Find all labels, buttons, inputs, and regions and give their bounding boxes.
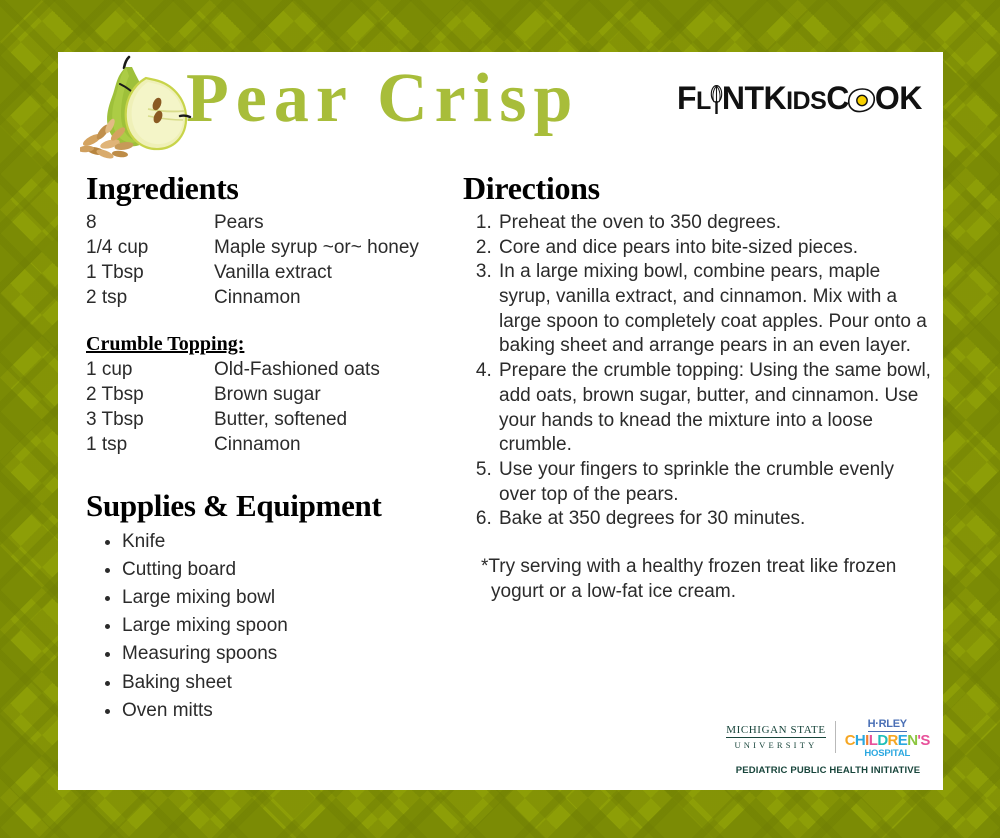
ingredient-qty: 1 Tbsp: [86, 261, 214, 286]
footer-logos: MICHIGAN STATE UNIVERSITY H·RLEY CHILDRE…: [718, 716, 938, 782]
ingredient-item: Butter, softened: [214, 408, 380, 433]
list-item: Bake at 350 degrees for 30 minutes.: [497, 507, 933, 532]
page-title: Pear Crisp: [186, 60, 579, 138]
crumble-topping-table: 1 cup Old-Fashioned oats 2 Tbsp Brown su…: [86, 358, 380, 458]
ingredient-qty: 8: [86, 211, 214, 236]
left-column: Ingredients 8 Pears 1/4 cup Maple syrup …: [86, 170, 476, 725]
table-row: 1 Tbsp Vanilla extract: [86, 261, 419, 286]
list-item: Core and dice pears into bite-sized piec…: [497, 236, 933, 261]
hurley-logo-childrens: CHILDREN'S: [845, 733, 930, 748]
table-row: 2 Tbsp Brown sugar: [86, 383, 380, 408]
hurley-childrens-hospital-logo: H·RLEY CHILDREN'S HOSPITAL: [845, 715, 930, 759]
brand-letter-l: L: [696, 87, 711, 115]
list-item: Use your fingers to sprinkle the crumble…: [497, 458, 933, 507]
crumble-topping-subheading: Crumble Topping:: [86, 333, 244, 356]
ingredient-item: Vanilla extract: [214, 261, 419, 286]
logo-divider: [835, 721, 836, 753]
ingredient-qty: 2 tsp: [86, 286, 214, 311]
serving-suggestion-note: *Try serving with a healthy frozen treat…: [463, 554, 933, 604]
recipe-card-page: Pear Crisp FL NTKIDSC OK: [0, 0, 1000, 838]
brand-letters-ids: IDS: [786, 87, 826, 115]
ingredient-qty: 2 Tbsp: [86, 383, 214, 408]
list-item: Preheat the oven to 350 degrees.: [497, 211, 933, 236]
ingredient-item: Cinnamon: [214, 433, 380, 458]
ingredients-heading: Ingredients: [86, 170, 476, 207]
brand-letters-nt: NT: [722, 80, 764, 116]
michigan-state-university-logo: MICHIGAN STATE UNIVERSITY: [726, 725, 826, 749]
ingredient-qty: 1 tsp: [86, 433, 214, 458]
card-body: Ingredients 8 Pears 1/4 cup Maple syrup …: [58, 170, 943, 730]
table-row: 8 Pears: [86, 211, 419, 236]
supplies-list: Knife Cutting board Large mixing bowl La…: [86, 528, 476, 725]
fried-egg-icon: [847, 88, 877, 114]
list-item: Knife: [122, 528, 476, 556]
directions-list: Preheat the oven to 350 degrees. Core an…: [463, 211, 933, 532]
table-row: 1/4 cup Maple syrup ~or~ honey: [86, 236, 419, 261]
brand-letters-ok: OK: [875, 80, 922, 116]
brand-letter-k: K: [763, 80, 786, 116]
ingredient-qty: 1/4 cup: [86, 236, 214, 261]
card-header: Pear Crisp FL NTKIDSC OK: [58, 52, 943, 170]
list-item: Cutting board: [122, 556, 476, 584]
table-row: 2 tsp Cinnamon: [86, 286, 419, 311]
list-item: Baking sheet: [122, 669, 476, 697]
ingredient-item: Cinnamon: [214, 286, 419, 311]
recipe-card: Pear Crisp FL NTKIDSC OK: [58, 52, 943, 790]
table-row: 3 Tbsp Butter, softened: [86, 408, 380, 433]
ingredient-qty: 1 cup: [86, 358, 214, 383]
hurley-logo-hospital: HOSPITAL: [845, 749, 930, 759]
list-item: Measuring spoons: [122, 640, 476, 668]
pear-and-oats-illustration: [80, 54, 200, 166]
right-column: Directions Preheat the oven to 350 degre…: [463, 170, 933, 604]
ingredient-item: Old-Fashioned oats: [214, 358, 380, 383]
ingredient-qty: 3 Tbsp: [86, 408, 214, 433]
hurley-logo-top: H·RLEY: [868, 719, 907, 732]
list-item: In a large mixing bowl, combine pears, m…: [497, 260, 933, 359]
list-item: Large mixing spoon: [122, 612, 476, 640]
list-item: Oven mitts: [122, 697, 476, 725]
table-row: 1 tsp Cinnamon: [86, 433, 380, 458]
table-row: 1 cup Old-Fashioned oats: [86, 358, 380, 383]
list-item: Large mixing bowl: [122, 584, 476, 612]
directions-heading: Directions: [463, 170, 933, 207]
msu-logo-line2: UNIVERSITY: [726, 741, 826, 750]
pediatric-public-health-initiative-tagline: PEDIATRIC PUBLIC HEALTH INITIATIVE: [718, 765, 938, 776]
flintkidscook-logo: FL NTKIDSC OK: [677, 74, 927, 122]
brand-letter-f: F: [677, 80, 696, 116]
brand-letter-c: C: [826, 80, 849, 116]
ingredient-item: Pears: [214, 211, 419, 236]
ingredient-item: Brown sugar: [214, 383, 380, 408]
ingredients-table: 8 Pears 1/4 cup Maple syrup ~or~ honey 1…: [86, 211, 419, 311]
msu-logo-line1: MICHIGAN STATE: [726, 725, 826, 738]
ingredient-item: Maple syrup ~or~ honey: [214, 236, 419, 261]
supplies-heading: Supplies & Equipment: [86, 488, 476, 524]
list-item: Prepare the crumble topping: Using the s…: [497, 359, 933, 458]
